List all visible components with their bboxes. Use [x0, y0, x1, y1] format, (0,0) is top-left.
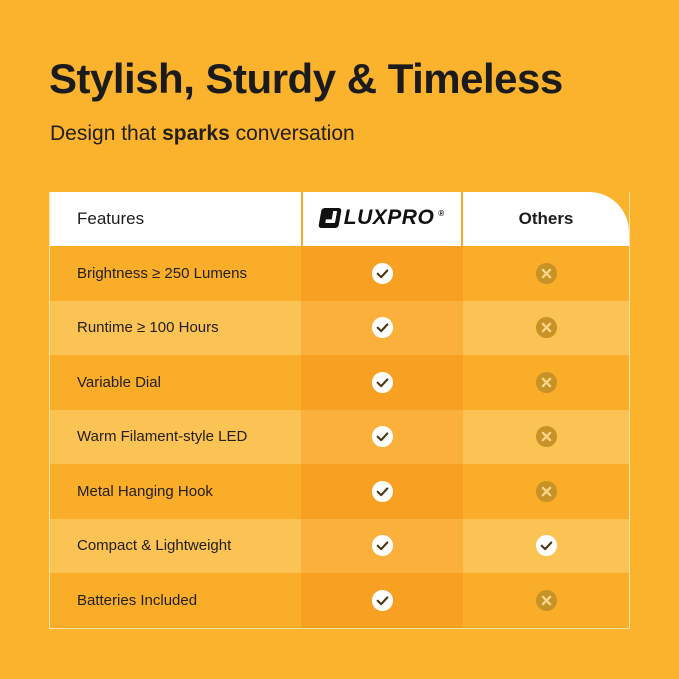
check-circle-icon	[371, 480, 394, 503]
feature-label: Warm Filament-style LED	[50, 410, 301, 465]
subtitle-part-2: conversation	[230, 122, 355, 145]
luxpro-cell	[301, 355, 463, 410]
others-cell	[463, 355, 629, 410]
table-header-row: Features LUXPRO ® Others	[50, 192, 629, 246]
cross-circle-icon	[535, 425, 558, 448]
check-circle-icon	[371, 262, 394, 285]
cross-circle-icon	[535, 371, 558, 394]
column-header-luxpro: LUXPRO ®	[301, 192, 463, 246]
table-row: Metal Hanging Hook	[50, 464, 629, 519]
page-subtitle: Design that sparks conversation	[50, 122, 355, 146]
check-circle-icon	[535, 534, 558, 557]
others-cell	[463, 410, 629, 465]
luxpro-cell	[301, 410, 463, 465]
others-cell	[463, 464, 629, 519]
luxpro-mark-icon	[318, 208, 342, 228]
luxpro-cell	[301, 246, 463, 301]
subtitle-emphasis: sparks	[162, 122, 230, 145]
luxpro-logo: LUXPRO ®	[320, 206, 444, 230]
table-row: Brightness ≥ 250 Lumens	[50, 246, 629, 301]
others-cell	[463, 573, 629, 628]
promo-page: Stylish, Sturdy & Timeless Design that s…	[0, 0, 679, 679]
check-circle-icon	[371, 589, 394, 612]
table-body: Brightness ≥ 250 Lumens Runtime ≥ 100 Ho…	[50, 246, 629, 628]
luxpro-cell	[301, 301, 463, 356]
check-circle-icon	[371, 534, 394, 557]
feature-label: Runtime ≥ 100 Hours	[50, 301, 301, 356]
luxpro-cell	[301, 464, 463, 519]
others-cell	[463, 246, 629, 301]
luxpro-wordmark: LUXPRO	[344, 206, 435, 230]
luxpro-cell	[301, 573, 463, 628]
others-cell	[463, 301, 629, 356]
feature-label: Brightness ≥ 250 Lumens	[50, 246, 301, 301]
feature-label: Metal Hanging Hook	[50, 464, 301, 519]
cross-circle-icon	[535, 262, 558, 285]
column-header-features: Features	[50, 192, 301, 246]
feature-label: Variable Dial	[50, 355, 301, 410]
table-row: Batteries Included	[50, 573, 629, 628]
table-row: Compact & Lightweight	[50, 519, 629, 574]
check-circle-icon	[371, 425, 394, 448]
luxpro-cell	[301, 519, 463, 574]
column-header-others: Others	[463, 192, 629, 246]
others-cell	[463, 519, 629, 574]
check-circle-icon	[371, 371, 394, 394]
cross-circle-icon	[535, 316, 558, 339]
table-row: Variable Dial	[50, 355, 629, 410]
cross-circle-icon	[535, 480, 558, 503]
registered-trademark-icon: ®	[438, 209, 444, 218]
check-circle-icon	[371, 316, 394, 339]
comparison-table: Features LUXPRO ® Others Brightness ≥ 25…	[49, 192, 630, 629]
table-row: Runtime ≥ 100 Hours	[50, 301, 629, 356]
feature-label: Compact & Lightweight	[50, 519, 301, 574]
page-title: Stylish, Sturdy & Timeless	[49, 55, 563, 103]
table-row: Warm Filament-style LED	[50, 410, 629, 465]
feature-label: Batteries Included	[50, 573, 301, 628]
subtitle-part-1: Design that	[50, 122, 162, 145]
cross-circle-icon	[535, 589, 558, 612]
